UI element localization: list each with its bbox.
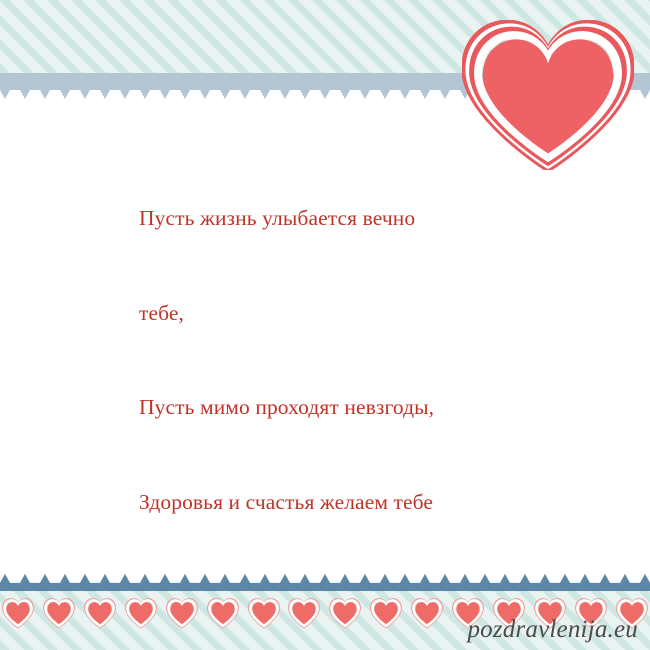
greeting-card: Пусть жизнь улыбается вечно тебе, Пусть … (0, 0, 650, 650)
message-line-1: Пусть жизнь улыбается вечно (139, 203, 559, 235)
mini-heart-icon (205, 597, 241, 629)
mini-heart-icon (368, 597, 404, 629)
mini-heart-icon (286, 597, 322, 629)
site-watermark: pozdravlenija.eu (467, 617, 638, 642)
mini-heart-icon (164, 597, 200, 629)
mini-heart-icon (82, 597, 118, 629)
mini-heart-icon (123, 597, 159, 629)
mini-heart-icon (41, 597, 77, 629)
mini-heart-icon (409, 597, 445, 629)
message-line-3: Пусть мимо проходят невзгоды, (139, 392, 559, 424)
mini-heart-icon (327, 597, 363, 629)
mini-heart-icon (0, 597, 36, 629)
message-line-4: Здоровья и счастья желаем тебе (139, 487, 559, 519)
message-line-2: тебе, (139, 298, 559, 330)
mini-heart-icon (246, 597, 282, 629)
greeting-message: Пусть жизнь улыбается вечно тебе, Пусть … (139, 140, 559, 650)
